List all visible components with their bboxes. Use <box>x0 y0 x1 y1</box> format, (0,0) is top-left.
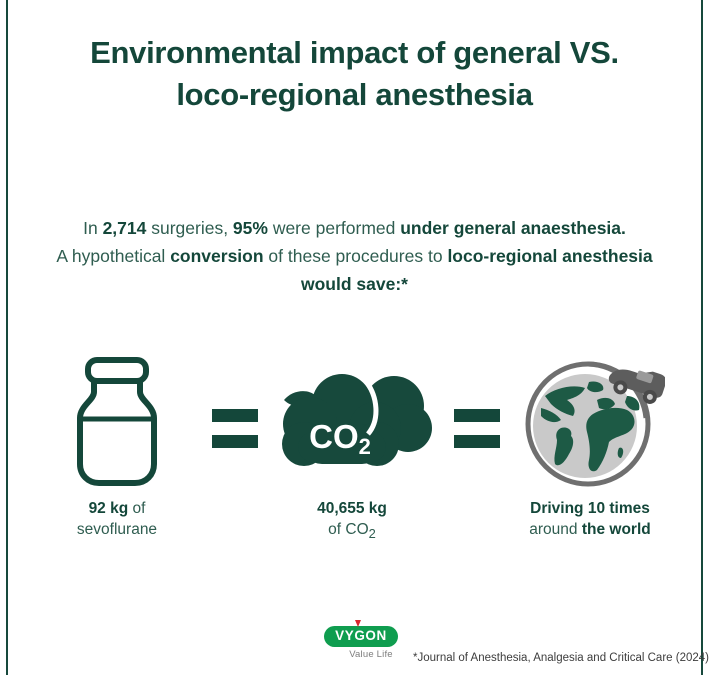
sevoflurane-unit: sevoflurane <box>77 521 157 538</box>
globe-with-car-icon <box>515 352 665 492</box>
intro-text-3: were performed <box>268 218 400 238</box>
driving-caption: Driving 10 timesaround the world <box>505 498 675 540</box>
vygon-logo-pin-icon <box>355 620 361 627</box>
globe-with-car-art <box>505 352 675 492</box>
co2-cloud-icon: CO2 <box>272 366 432 478</box>
intro-text-4: A hypothetical <box>56 246 170 266</box>
equation-item-sevoflurane: 92 kg ofsevoflurane <box>32 352 202 552</box>
co2-unit-text: of CO <box>328 521 368 538</box>
intro-bold-conversion: conversion <box>170 246 263 266</box>
vygon-logo-name: VYGON <box>335 628 387 643</box>
equals-sign-1 <box>212 406 258 452</box>
intro-paragraph: In 2,714 surgeries, 95% were performed u… <box>40 214 669 298</box>
equation-item-driving: Driving 10 timesaround the world <box>505 352 675 552</box>
driving-unit-bold: the world <box>582 521 651 538</box>
source-citation: *Journal of Anesthesia, Analgesia and Cr… <box>413 652 709 664</box>
vygon-logo[interactable]: VYGON Value Life <box>316 626 406 660</box>
co2-cloud-art: CO2 <box>267 352 437 492</box>
sevoflurane-caption: 92 kg ofsevoflurane <box>32 498 202 540</box>
intro-text-1: In <box>83 218 102 238</box>
left-border-rule <box>6 0 8 675</box>
driving-value: Driving 10 times <box>530 500 650 517</box>
equals-sign-2 <box>454 406 500 452</box>
right-border-rule <box>701 0 703 675</box>
sevoflurane-bottle-icon <box>62 356 172 488</box>
co2-caption: 40,655 kgof CO2 <box>267 498 437 544</box>
intro-text-5: of these procedures to <box>264 246 448 266</box>
sevoflurane-bottle-art <box>32 352 202 492</box>
driving-unit: around <box>529 521 582 538</box>
vygon-logo-tagline: Value Life <box>336 649 406 660</box>
sevoflurane-value: 92 kg <box>89 500 129 517</box>
sevoflurane-of: of <box>128 500 145 517</box>
vygon-logo-badge: VYGON <box>324 626 398 647</box>
intro-bold-surgeries-count: 2,714 <box>103 218 147 238</box>
page-title: Environmental impact of general VS. loco… <box>50 32 659 116</box>
equation-row: 92 kg ofsevoflurane <box>22 352 687 552</box>
infographic-canvas: Environmental impact of general VS. loco… <box>0 0 709 675</box>
page-title-line-1: Environmental impact of general VS. <box>50 32 659 74</box>
intro-bold-percentage: 95% <box>233 218 268 238</box>
co2-unit-subscript: 2 <box>369 526 376 541</box>
footer: VYGON Value Life *Journal of Anesthesia,… <box>0 624 709 675</box>
page-title-line-2: loco-regional anesthesia <box>50 74 659 116</box>
intro-text-2: surgeries, <box>146 218 233 238</box>
co2-unit: of CO2 <box>328 521 376 538</box>
intro-bold-general-anaesthesia: under general anaesthesia. <box>400 218 626 238</box>
co2-value: 40,655 kg <box>317 500 387 517</box>
equation-item-co2: CO2 40,655 kgof CO2 <box>267 352 437 552</box>
